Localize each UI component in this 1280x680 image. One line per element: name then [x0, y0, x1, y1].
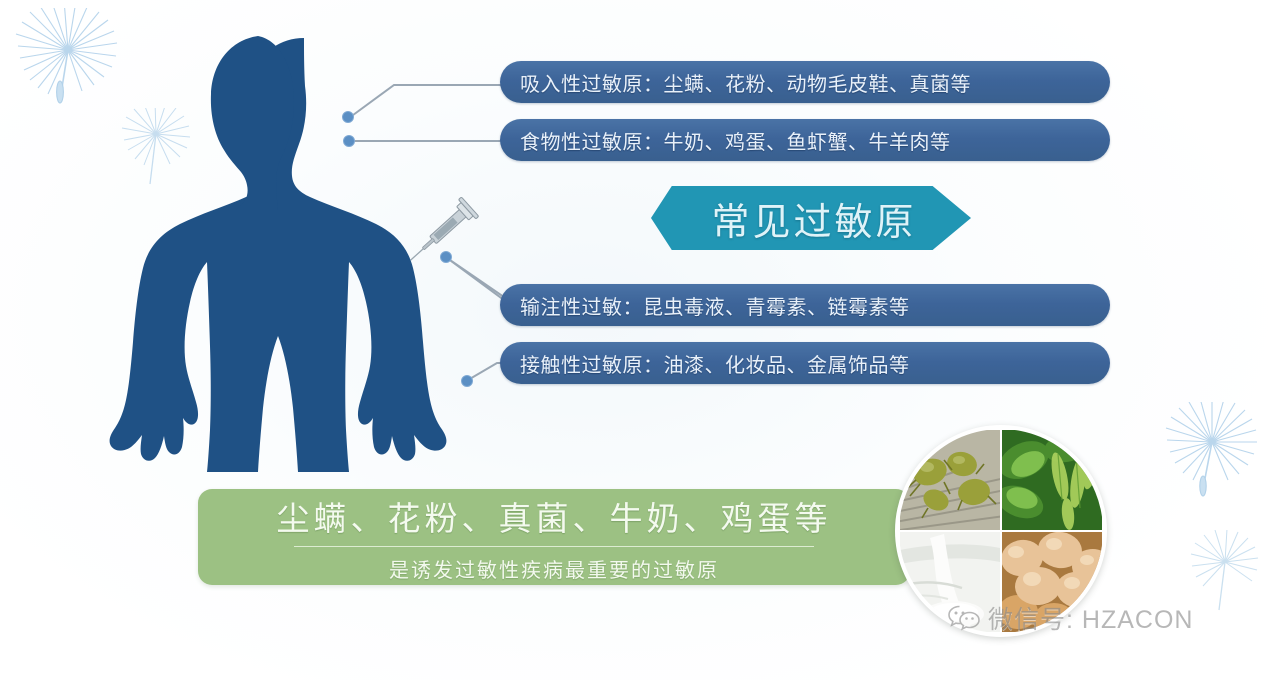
watermark: 微信号: HZACON	[947, 600, 1193, 636]
wechat-icon	[947, 603, 981, 633]
summary-box: 尘螨、花粉、真菌、牛奶、鸡蛋等 是诱发过敏性疾病最重要的过敏原	[198, 489, 910, 585]
label-food-text: 食物性过敏原：牛奶、鸡蛋、鱼虾蟹、牛羊肉等	[520, 126, 951, 155]
dandelion-icon-right	[1152, 402, 1277, 552]
title-banner-shape	[651, 186, 971, 250]
label-food-allergens[interactable]: 食物性过敏原：牛奶、鸡蛋、鱼虾蟹、牛羊肉等	[500, 119, 1110, 161]
summary-divider	[294, 546, 814, 547]
syringe-icon	[408, 182, 498, 262]
summary-sub-text: 是诱发过敏性疾病最重要的过敏原	[389, 554, 719, 583]
summary-main-text: 尘螨、花粉、真菌、牛奶、鸡蛋等	[277, 492, 832, 544]
label-inhalant-allergens[interactable]: 吸入性过敏原：尘螨、花粉、动物毛皮鞋、真菌等	[500, 61, 1110, 103]
label-inhalant-text: 吸入性过敏原：尘螨、花粉、动物毛皮鞋、真菌等	[520, 68, 971, 97]
collage-quadrant-pollen	[1001, 429, 1103, 531]
watermark-text: 微信号: HZACON	[988, 600, 1193, 636]
label-contact-text: 接触性过敏原：油漆、化妆品、金属饰品等	[520, 349, 910, 378]
label-injection-text: 输注性过敏：昆虫毒液、青霉素、链霉素等	[520, 291, 910, 320]
label-injection-allergens[interactable]: 输注性过敏：昆虫毒液、青霉素、链霉素等	[500, 284, 1110, 326]
label-contact-allergens[interactable]: 接触性过敏原：油漆、化妆品、金属饰品等	[500, 342, 1110, 384]
infographic-canvas: 吸入性过敏原：尘螨、花粉、动物毛皮鞋、真菌等 食物性过敏原：牛奶、鸡蛋、鱼虾蟹、…	[0, 0, 1280, 680]
collage-quadrant-dust-mites	[899, 429, 1001, 531]
